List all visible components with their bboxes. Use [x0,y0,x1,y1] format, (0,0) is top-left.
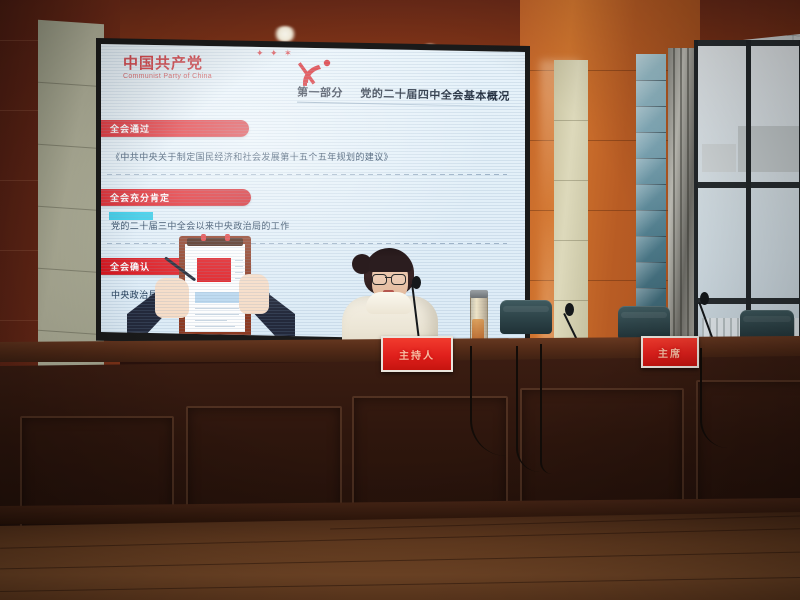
presenter-collar [366,292,412,314]
eyeglasses-left-lens [372,274,387,285]
cable [470,346,506,456]
clipboard-pin [225,234,230,241]
block-1-label-text: 全会通过 [110,122,150,135]
slide-title-heading: 党的二十届四中全会基本概况 [360,87,510,103]
presentation-screen[interactable]: 中国共产党 Communist Party of China ✦ ✦ ✶ 第一部… [101,44,525,344]
party-logo-english: Communist Party of China [123,73,293,80]
slide-block-text-1: 《中共中央关于制定国民经济和社会发展第十五个五年规划的建议》 [111,150,393,163]
cable [540,344,552,474]
logo-stars-icon: ✦ ✦ ✶ [256,48,294,59]
slide-block-label-1: 全会通过 [101,120,249,137]
tea-thermos [470,296,488,344]
party-logo: 中国共产党 Communist Party of China [123,56,293,80]
conference-chair [500,300,552,334]
slide-dashed-rule [107,174,507,175]
ballot-red-box [197,258,231,282]
wall-downlight [272,26,298,42]
slide-title-part: 第一部分 [297,86,343,100]
cable [516,346,540,472]
microphone-head [700,292,709,305]
clipboard-pin [201,234,206,241]
eyeglasses-right-lens [391,274,406,285]
slide-title: 第一部分 党的二十届四中全会基本概况 [297,84,525,105]
thermos-lid [470,290,488,298]
block-2-label-text: 全会充分肯定 [110,191,170,204]
nameplate-main: 主持人 [381,336,453,372]
clipboard-paper [185,244,245,332]
conference-chair [618,306,670,340]
ballot-blue-bar [195,292,239,303]
left-beige-panel [38,20,104,385]
nameplate-main-text: 主持人 [399,347,435,362]
conference-room-photo: 中国共产党 Communist Party of China ✦ ✦ ✶ 第一部… [0,0,800,600]
slide-block-label-2: 全会充分肯定 [101,189,251,206]
cable [700,348,728,448]
nameplate-side-text: 主席 [658,345,682,360]
right-beige-pillar [554,60,588,380]
wood-floor [0,512,800,600]
cyan-accent-bar [109,212,153,220]
clipboard-clamp [187,238,243,246]
eyeglasses-bridge [385,277,391,278]
thermos-contents [472,319,484,341]
presenter-fringe [368,256,412,272]
microphone-head [565,303,574,316]
building-outside [702,144,736,172]
clipboard-voting-illustration [127,230,295,342]
left-hand [155,278,189,318]
right-hand [239,274,269,314]
microphone-head [412,276,421,289]
nameplate-side: 主席 [641,336,699,368]
curtain-rail [668,48,694,378]
